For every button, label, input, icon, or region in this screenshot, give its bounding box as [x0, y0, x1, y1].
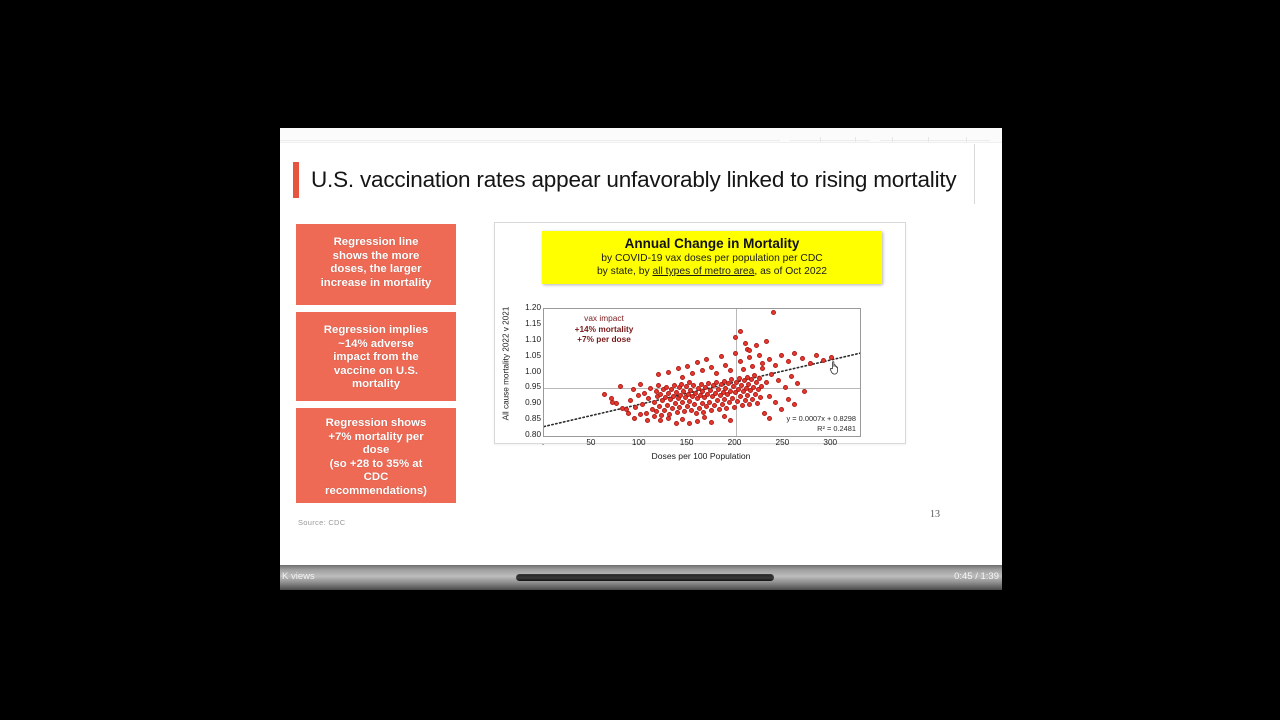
presentation-slide: U.S. vaccination rates appear unfavorabl…: [280, 128, 1002, 565]
scatter-point: [786, 397, 791, 402]
scatter-point: [670, 406, 675, 411]
scatter-point: [714, 371, 719, 376]
scatter-point: [652, 414, 657, 419]
video-player[interactable]: U.S. vaccination rates appear unfavorabl…: [280, 128, 1002, 590]
scatter-point: [695, 419, 700, 424]
x-tick-label: 50: [576, 438, 606, 447]
x-tick-label: 150: [672, 438, 702, 447]
scatter-point: [732, 405, 737, 410]
scatter-point: [808, 361, 813, 366]
scatter-point: [628, 398, 633, 403]
callout-line: +7% mortality per: [302, 431, 450, 445]
scatter-point: [652, 400, 657, 405]
callout-box-1: Regression line shows the more doses, th…: [296, 224, 456, 305]
x-tick-label: 200: [720, 438, 750, 447]
slide-title-row: U.S. vaccination rates appear unfavorabl…: [293, 160, 993, 202]
scatter-point: [676, 366, 681, 371]
pointing-hand-cursor: [828, 359, 842, 375]
scatter-point: [764, 339, 769, 344]
scatter-point: [776, 378, 781, 383]
y-tick-label: 1.00: [515, 367, 541, 376]
y-tick-label: 0.90: [515, 398, 541, 407]
scatter-point: [709, 365, 714, 370]
callout-line: recommendations): [302, 485, 450, 499]
subtitle-post: , as of Oct 2022: [754, 266, 827, 277]
scatter-point: [695, 360, 700, 365]
plot-area-wrapper: All cause mortality 2022 v 2021 1.201.15…: [495, 305, 905, 443]
scatter-point: [786, 359, 791, 364]
scatter-point: [642, 391, 647, 396]
scatter-point: [648, 386, 653, 391]
screen: U.S. vaccination rates appear unfavorabl…: [0, 0, 1280, 720]
scatter-point: [717, 407, 722, 412]
chart-subtitle-1: by COVID-19 vax doses per population per…: [546, 252, 878, 265]
callout-line: doses, the larger: [302, 263, 450, 277]
subtitle-pre: by state, by: [597, 266, 653, 277]
scatter-point: [719, 354, 724, 359]
scatter-plot: vax impact +14% mortality +7% per dose y…: [543, 308, 861, 437]
slide-page-number: 13: [930, 509, 940, 520]
player-bar-highlight: [485, 153, 525, 157]
scatter-point: [692, 402, 697, 407]
scatter-point: [760, 366, 765, 371]
scatter-point: [666, 370, 671, 375]
top-header-artifact: [280, 128, 1002, 143]
callout-line: ~14% adverse: [302, 338, 450, 352]
scatter-point: [716, 387, 721, 392]
callout-line: increase in mortality: [302, 277, 450, 291]
scrubber-progress: [516, 574, 632, 581]
view-count: K views: [282, 571, 315, 582]
scatter-point: [675, 410, 680, 415]
scatter-point: [674, 421, 679, 426]
y-tick-label: 1.05: [515, 351, 541, 360]
scatter-point: [618, 384, 623, 389]
scatter-point: [757, 353, 762, 358]
callout-line: (so +28 to 35% at: [302, 458, 450, 472]
scatter-point: [738, 359, 743, 364]
callout-box-3: Regression shows +7% mortality per dose …: [296, 408, 456, 503]
scatter-point: [722, 414, 727, 419]
x-tick-label: 300: [815, 438, 845, 447]
video-scrubber[interactable]: [516, 574, 774, 581]
scatter-point: [750, 397, 755, 402]
scatter-point: [620, 406, 625, 411]
callout-box-2: Regression implies ~14% adverse impact f…: [296, 312, 456, 401]
callout-line: Regression line: [302, 236, 450, 250]
scatter-point: [659, 413, 664, 418]
video-timestamp: 0:45 / 1:39: [954, 571, 999, 582]
callout-line: CDC: [302, 471, 450, 485]
x-axis-label: Doses per 100 Population: [543, 451, 859, 461]
y-tick-label: 0.85: [515, 414, 541, 423]
chart-panel: Annual Change in Mortality by COVID-19 v…: [494, 222, 906, 444]
scatter-point: [704, 357, 709, 362]
scatter-point: [764, 380, 769, 385]
scatter-point: [609, 396, 614, 401]
page-title: U.S. vaccination rates appear unfavorabl…: [311, 160, 1001, 200]
scatter-point: [645, 418, 650, 423]
scatter-point: [666, 416, 671, 421]
title-divider: [974, 144, 975, 204]
subtitle-underlined: all types of metro area: [652, 266, 754, 277]
scatter-point: [739, 383, 744, 388]
y-tick-label: 1.15: [515, 319, 541, 328]
scatter-point: [672, 383, 677, 388]
scatter-point: [644, 411, 649, 416]
y-axis-label: All cause mortality 2022 v 2021: [497, 305, 511, 440]
scatter-point: [626, 411, 631, 416]
scatter-point: [712, 403, 717, 408]
callout-list: Regression line shows the more doses, th…: [296, 224, 456, 510]
source-note: Source: CDC: [298, 518, 345, 527]
callout-line: shows the more: [302, 250, 450, 264]
scatter-point: [789, 374, 794, 379]
video-control-bar[interactable]: K views 0:45 / 1:39: [280, 565, 1002, 590]
x-tick-origin: .: [528, 438, 558, 447]
scatter-point: [767, 394, 772, 399]
y-tick-label: 0.95: [515, 382, 541, 391]
scatter-point: [700, 368, 705, 373]
scatter-point: [802, 389, 807, 394]
scatter-point: [733, 351, 738, 356]
y-tick-label: 1.20: [515, 303, 541, 312]
callout-line: dose: [302, 444, 450, 458]
scatter-point: [800, 356, 805, 361]
x-tick-label: 100: [624, 438, 654, 447]
y-axis-ticks: 1.201.151.101.051.000.950.900.850.80: [511, 305, 541, 443]
y-tick-label: 1.10: [515, 335, 541, 344]
callout-line: Regression implies: [302, 324, 450, 338]
callout-line: vaccine on U.S.: [302, 365, 450, 379]
scatter-point: [694, 411, 699, 416]
scatter-point: [685, 364, 690, 369]
scatter-point: [646, 396, 651, 401]
scatter-point: [757, 376, 762, 381]
title-accent-bar: [293, 162, 299, 198]
scatter-point: [767, 357, 772, 362]
x-axis-ticks: 50100150200250300.: [543, 438, 863, 452]
chart-subtitle-2: by state, by all types of metro area, as…: [546, 265, 878, 278]
chart-title-banner: Annual Change in Mortality by COVID-19 v…: [542, 231, 882, 284]
callout-line: mortality: [302, 378, 450, 392]
callout-line: Regression shows: [302, 417, 450, 431]
x-tick-label: 250: [767, 438, 797, 447]
callout-line: impact from the: [302, 351, 450, 365]
scatter-point: [759, 384, 764, 389]
chart-title: Annual Change in Mortality: [546, 236, 878, 252]
